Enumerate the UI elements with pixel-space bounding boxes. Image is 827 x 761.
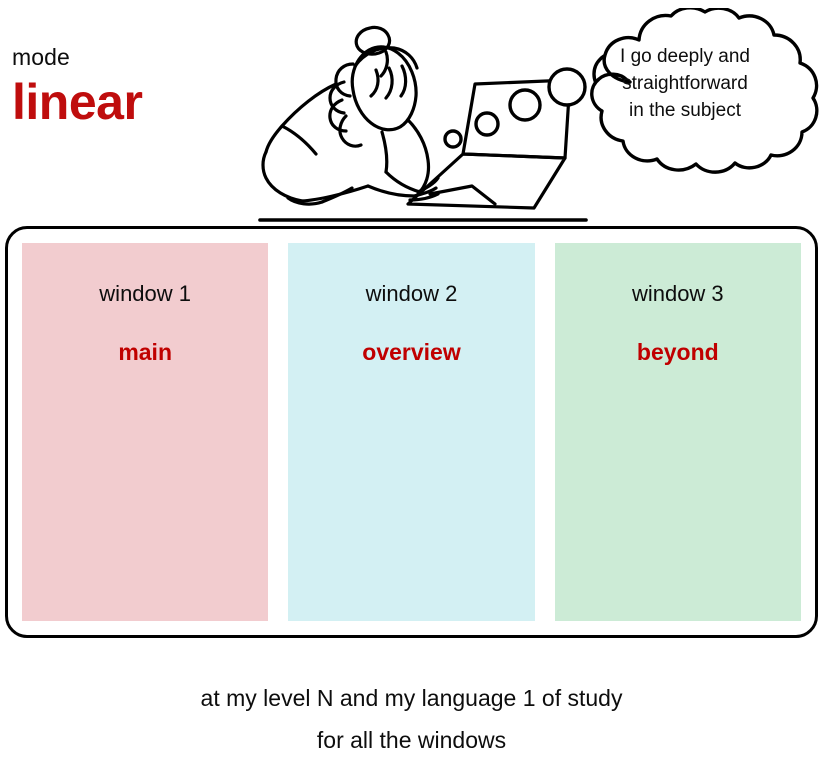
thought-dot-1 bbox=[445, 131, 461, 147]
windows-row: window 1 main window 2 overview window 3… bbox=[22, 243, 801, 621]
thought-bubble-line-3: in the subject bbox=[590, 97, 780, 124]
window-panel-2[interactable]: window 2 overview bbox=[288, 243, 534, 621]
caption-line-1: at my level N and my language 1 of study bbox=[8, 677, 815, 719]
thought-bubble-text: I go deeply and straightforward in the s… bbox=[590, 43, 780, 124]
caption-text: at my level N and my language 1 of study… bbox=[8, 677, 815, 761]
mode-header: mode linear bbox=[12, 44, 262, 130]
thought-dot-2 bbox=[476, 113, 498, 135]
thought-dot-4 bbox=[549, 69, 585, 105]
thought-bubble-line-1: I go deeply and bbox=[590, 43, 780, 70]
window-3-kind: beyond bbox=[555, 339, 801, 366]
thought-bubble-line-2: straightforward bbox=[590, 70, 780, 97]
mode-label: mode bbox=[12, 44, 262, 70]
window-2-title: window 2 bbox=[288, 281, 534, 307]
window-panel-3[interactable]: window 3 beyond bbox=[555, 243, 801, 621]
mode-value: linear bbox=[12, 74, 262, 130]
caption-line-2: for all the windows bbox=[8, 719, 815, 761]
window-3-title: window 3 bbox=[555, 281, 801, 307]
window-panel-1[interactable]: window 1 main bbox=[22, 243, 268, 621]
thought-bubble: I go deeply and straightforward in the s… bbox=[440, 8, 827, 183]
window-1-title: window 1 bbox=[22, 281, 268, 307]
window-1-kind: main bbox=[22, 339, 268, 366]
thought-dot-3 bbox=[510, 90, 540, 120]
windows-frame: window 1 main window 2 overview window 3… bbox=[5, 226, 818, 638]
window-2-kind: overview bbox=[288, 339, 534, 366]
